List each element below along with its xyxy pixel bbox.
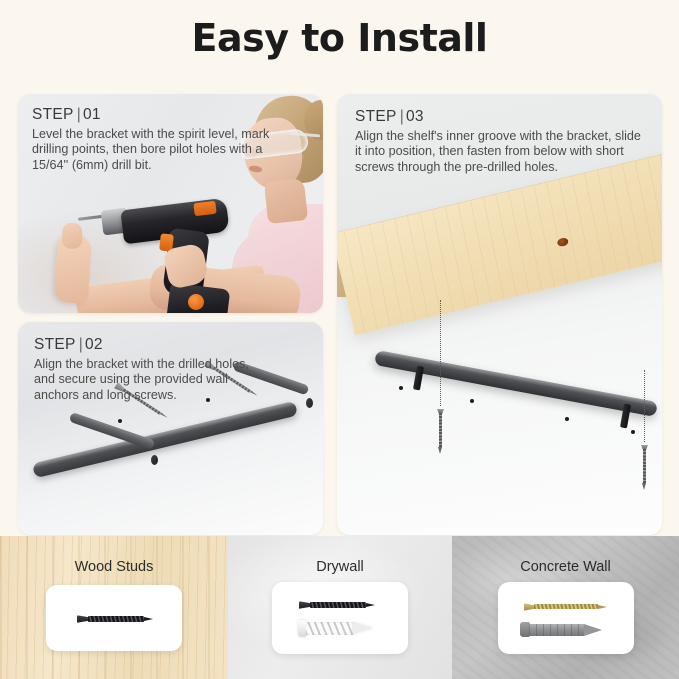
material-label-drywall: Drywall [228,559,452,575]
material-label-concrete-wall: Concrete Wall [452,559,679,575]
bracket-rod-cap [306,398,313,408]
step-03-number: 03 [406,108,424,125]
drill-accent-shape [193,201,216,217]
step-panel-01: STEP|01 Level the bracket with the spiri… [18,94,323,313]
step-03-label: STEP [355,108,397,125]
gray-expansion-anchor-icon [520,622,602,637]
anchor-point [353,622,373,634]
step-panel-03: STEP|03 Align the shelf's inner groove w… [337,94,662,535]
screw-shaft [643,449,646,483]
screw-tip [160,413,168,419]
anchor-body [306,622,354,635]
material-wood-studs: Wood Studs [0,536,228,679]
step-01-number: 01 [83,106,101,123]
bracket-hole [399,386,403,390]
white-self-drilling-anchor-icon [298,620,372,637]
material-concrete-wall: Concrete Wall [452,536,679,679]
step-03-heading: STEP|03 [355,108,424,126]
alignment-dotted-line [440,300,441,406]
hardware-card-concrete-wall [498,582,634,654]
left-hand-shape [54,232,93,304]
bracket-hole [118,419,122,423]
anchor-body [529,624,585,636]
anchor-point [584,624,602,636]
page-title: Easy to Install [0,16,679,60]
step-01-label: STEP [32,106,74,123]
wood-grain-texture [337,152,662,335]
material-strip: Wood Studs Drywall [0,536,679,679]
screw-tip [438,447,442,454]
screw-tip [144,617,153,621]
screw-tip [366,603,375,607]
shelf-board [337,152,662,335]
screw-tip [642,483,646,490]
step-panel-02: STEP|02 Align the bracket with the drill… [18,322,323,535]
material-drywall: Drywall [228,536,452,679]
screw-shaft [534,604,598,609]
bracket-hole [565,417,569,421]
material-label-wood-studs: Wood Studs [0,559,228,575]
bracket-hole [470,399,474,403]
bracket-bar [32,401,298,479]
screw-shaft [88,616,144,622]
alignment-dotted-line [644,370,645,442]
screw-shaft [310,602,366,608]
step-02-heading: STEP|02 [34,336,103,354]
step-02-label: STEP [34,336,76,353]
bracket-rod-cap [151,455,158,465]
step-02-divider: | [79,336,83,354]
step-03-body: Align the shelf's inner groove with the … [355,129,645,175]
step-02-body: Align the bracket with the drilled holes… [34,357,266,403]
step-03-divider: | [400,108,404,126]
step-01-divider: | [77,106,81,124]
screw-shaft [439,413,442,447]
infographic-page: Easy to Install STEP|01 [0,0,679,679]
neck-shape [264,178,308,224]
hardware-card-wood-studs [46,585,182,651]
step-01-heading: STEP|01 [32,106,101,124]
step-01-body: Level the bracket with the spirit level,… [32,127,300,173]
step-02-number: 02 [85,336,103,353]
hardware-card-drywall [272,582,408,654]
screw-tip [598,605,607,609]
bracket-hole [631,430,635,434]
